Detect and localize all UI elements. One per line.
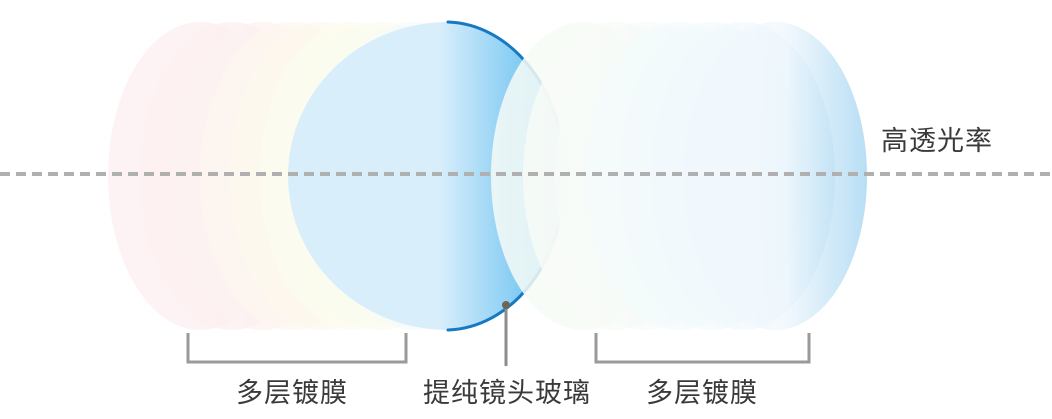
pointer-dot-icon <box>502 301 510 309</box>
lens-coating-diagram: 高透光率 多层镀膜 提纯镜头玻璃 多层镀膜 <box>0 0 1052 419</box>
label-multilayer-coating-left: 多层镀膜 <box>236 380 348 407</box>
brackets-group <box>188 333 809 362</box>
label-purified-lens-glass: 提纯镜头玻璃 <box>423 380 591 407</box>
label-high-transmittance: 高透光率 <box>881 128 993 155</box>
label-multilayer-coating-right: 多层镀膜 <box>646 380 758 407</box>
bracket-left <box>188 333 406 362</box>
bracket-right <box>596 333 809 362</box>
lens-stack-illustration <box>0 0 1052 419</box>
